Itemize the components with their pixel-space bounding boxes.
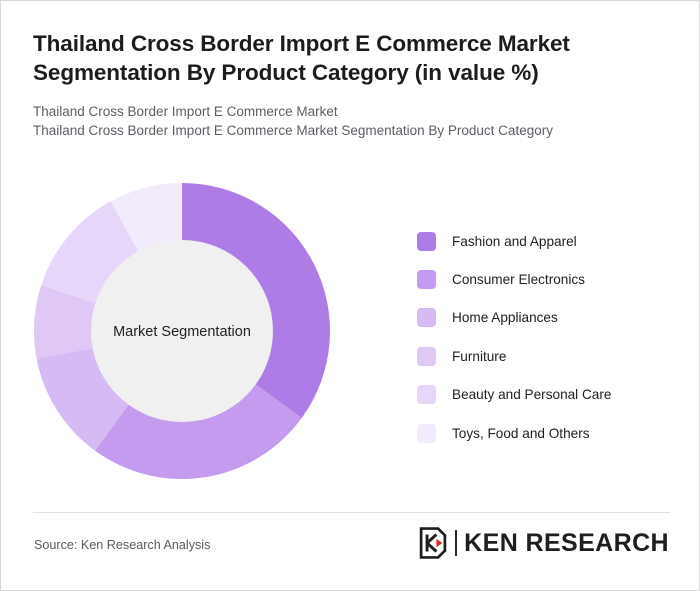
legend-item-label: Consumer Electronics (452, 272, 585, 287)
footer-divider (33, 512, 670, 513)
ken-research-shield-icon (416, 526, 450, 560)
donut-chart: Market Segmentation (32, 181, 332, 481)
donut-svg: Market Segmentation (32, 181, 332, 481)
legend-swatch-icon (417, 385, 436, 404)
legend-swatch-icon (417, 232, 436, 251)
legend-item[interactable]: Home Appliances (417, 299, 677, 337)
legend-swatch-icon (417, 347, 436, 366)
subtitle-primary: Thailand Cross Border Import E Commerce … (33, 102, 653, 122)
legend-item[interactable]: Consumer Electronics (417, 260, 677, 298)
brand-logo: KEN RESEARCH (416, 526, 669, 560)
legend-item[interactable]: Toys, Food and Others (417, 414, 677, 452)
subtitle-block: Thailand Cross Border Import E Commerce … (33, 102, 653, 142)
legend-item[interactable]: Beauty and Personal Care (417, 376, 677, 414)
legend-item[interactable]: Fashion and Apparel (417, 222, 677, 260)
chart-header: Thailand Cross Border Import E Commerce … (33, 29, 653, 141)
legend-item[interactable]: Furniture (417, 337, 677, 375)
source-note: Source: Ken Research Analysis (34, 538, 210, 552)
donut-center-label: Market Segmentation (113, 324, 251, 340)
page-title: Thailand Cross Border Import E Commerce … (33, 29, 653, 88)
legend-swatch-icon (417, 424, 436, 443)
legend-item-label: Fashion and Apparel (452, 234, 577, 249)
legend-swatch-icon (417, 308, 436, 327)
legend-item-label: Beauty and Personal Care (452, 387, 611, 402)
subtitle-secondary: Thailand Cross Border Import E Commerce … (33, 121, 653, 141)
chart-page: Thailand Cross Border Import E Commerce … (0, 0, 700, 591)
legend-item-label: Toys, Food and Others (452, 426, 590, 441)
chart-area: Market Segmentation Fashion and ApparelC… (1, 169, 700, 499)
brand-wordmark: KEN RESEARCH (464, 529, 669, 558)
brand-divider (455, 530, 457, 556)
chart-legend: Fashion and ApparelConsumer ElectronicsH… (417, 222, 677, 452)
legend-swatch-icon (417, 270, 436, 289)
legend-item-label: Home Appliances (452, 310, 558, 325)
legend-item-label: Furniture (452, 349, 506, 364)
